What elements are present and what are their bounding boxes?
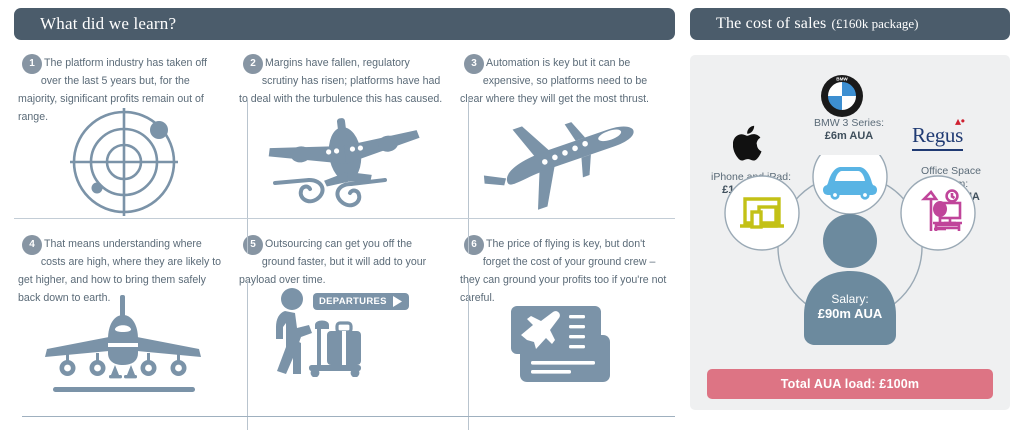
total-aua-banner: Total AUA load: £100m — [707, 369, 993, 399]
bmw-value: £6m AUA — [825, 130, 874, 142]
plane-turbulence-icon — [235, 106, 455, 226]
point-number-badge: 2 — [243, 54, 263, 74]
aua-bubble-diagram: Salary: £90m AUA — [700, 155, 1000, 355]
point-text: Automation is key but it can be expensiv… — [460, 57, 649, 105]
regus-logo: Regus▴• — [912, 123, 963, 151]
grid-divider-horizontal — [14, 218, 675, 219]
salary-value: £90m AUA — [818, 306, 883, 321]
right-panel-header: The cost of sales (£160k package) — [690, 8, 1010, 40]
cost-of-sales-panel: BMW BMW 3 Series: £6m AUA iPhone and iPa… — [690, 55, 1010, 410]
person-silhouette-icon — [804, 214, 896, 345]
point-text: Margins have fallen, regulatory scrutiny… — [239, 57, 442, 105]
learning-cell-3: 3 Automation is key but it can be expens… — [456, 48, 676, 228]
regus-flag-icon: ▴• — [955, 114, 965, 128]
bmw-logo: BMW — [821, 75, 863, 122]
grid-divider-vertical — [247, 281, 248, 430]
bottom-divider — [22, 416, 675, 417]
traveller-trolley-icon: DEPARTURES — [235, 277, 455, 397]
bmw-label-text: BMW 3 Series: — [814, 117, 884, 129]
svg-text:BMW: BMW — [836, 77, 848, 82]
left-panel-title: What did we learn? — [40, 14, 176, 34]
radar-target-icon — [14, 106, 234, 226]
point-number-badge: 3 — [464, 54, 484, 74]
learning-cell-6: 6 The price of flying is key, but don't … — [456, 229, 676, 409]
point-number-badge: 1 — [22, 54, 42, 74]
learning-text-block-2: 2 Margins have fallen, regulatory scruti… — [235, 48, 455, 107]
point-number-badge: 6 — [464, 235, 484, 255]
learnings-grid: 1 The platform industry has taken off ov… — [14, 48, 675, 408]
right-panel-title: The cost of sales — [716, 15, 826, 33]
grid-divider-vertical — [468, 281, 469, 430]
point-number-badge: 5 — [243, 235, 263, 255]
learning-cell-4: 4 That means understanding where costs a… — [14, 229, 234, 409]
regus-wordmark: Regus▴• — [912, 123, 963, 151]
plane-landing-icon — [14, 291, 234, 411]
grid-divider-vertical — [247, 98, 248, 253]
point-number-badge: 4 — [22, 235, 42, 255]
plane-takeoff-icon — [456, 106, 676, 226]
right-panel-subtitle: (£160k package) — [831, 16, 918, 32]
learning-cell-2: 2 Margins have fallen, regulatory scruti… — [235, 48, 455, 228]
boarding-pass-icon — [456, 291, 676, 411]
bmw-label: BMW 3 Series: £6m AUA — [789, 117, 909, 143]
infographic-root: What did we learn? The cost of sales (£1… — [0, 0, 1024, 430]
left-panel-header: What did we learn? — [14, 8, 675, 40]
learning-cell-5: 5 Outsourcing can get you off the ground… — [235, 229, 455, 409]
learning-cell-1: 1 The platform industry has taken off ov… — [14, 48, 234, 228]
salary-label: Salary: — [831, 292, 868, 306]
learning-text-block-3: 3 Automation is key but it can be expens… — [456, 48, 676, 107]
grid-divider-vertical — [468, 98, 469, 253]
